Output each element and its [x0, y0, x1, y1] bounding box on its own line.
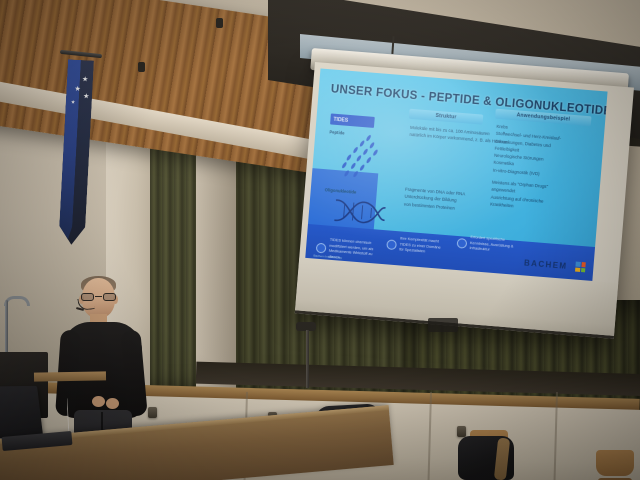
bullets-struktur-peptide: Moleküle mit bis zu ca. 100 Aminosäuren …: [409, 124, 490, 145]
projection-screen: UNSER FOKUS - PEPTIDE & OLIGONUKLEOTIDE …: [295, 62, 634, 339]
oligonucleotide-helix-graphic: [330, 194, 388, 230]
equipment-stand-pole: [306, 330, 309, 388]
footer-point-2: Ihre Komplexität macht TIDES zu einer Do…: [386, 235, 446, 257]
bullets-anwendung-oligo: Meistens als "Orphan Drugs" angewendet A…: [490, 179, 592, 216]
ceiling-speaker-mount: [216, 18, 223, 28]
bullets-struktur-oligo: Fragmente von DNA oder RNA Unterdrückung…: [404, 186, 489, 214]
wall-socket: [457, 426, 466, 437]
banner-star-icon: ★: [71, 101, 76, 106]
footer-text-3: Erfordert spezifische Kenntnisse, Ausrüs…: [469, 235, 516, 256]
stage-speaker-box: [428, 318, 458, 332]
banner-star-icon: ★: [82, 76, 89, 83]
hand-right: [106, 398, 119, 409]
banner-star-icon: ★: [83, 93, 90, 100]
footer-icon-2: [386, 239, 397, 250]
chair-back: [596, 450, 634, 476]
wooden-shelf: [34, 371, 106, 381]
ceiling-mount-bracket: [138, 62, 145, 72]
chair: [596, 450, 634, 480]
footer-text-2: Ihre Komplexität macht TIDES zu einer Do…: [399, 236, 446, 257]
projected-slide: UNSER FOKUS - PEPTIDE & OLIGONUKLEOTIDE …: [305, 68, 607, 280]
bullets-anwendung-peptide: Krebs Stoffwechsel- und Herz-Kreislauf- …: [493, 123, 597, 182]
laptop-screen: [0, 386, 43, 438]
footer-icon-3: [457, 238, 468, 249]
peptide-chain-graphic: [334, 132, 389, 180]
slide-title: UNSER FOKUS - PEPTIDE & OLIGONUKLEOTIDE: [330, 83, 600, 117]
bachem-logo-mark: [575, 262, 586, 273]
tides-badge: TIDES: [330, 113, 375, 127]
column-header-struktur: Struktur: [409, 109, 484, 125]
banner-star-icon: ★: [74, 86, 81, 93]
footer-text-1: TIDES können chemisch modifiziert werden…: [328, 238, 376, 264]
footer-point-3: Erfordert spezifische Kenntnisse, Ausrüs…: [456, 234, 516, 256]
lecture-hall-photo: ★ ★ ★ ★ UNSER FOKUS - PEPTIDE & OLIGONUK…: [0, 0, 640, 480]
footer-icon-1: [316, 243, 327, 254]
hand-left: [92, 396, 105, 407]
bachem-wordmark: BACHEM: [524, 258, 568, 270]
